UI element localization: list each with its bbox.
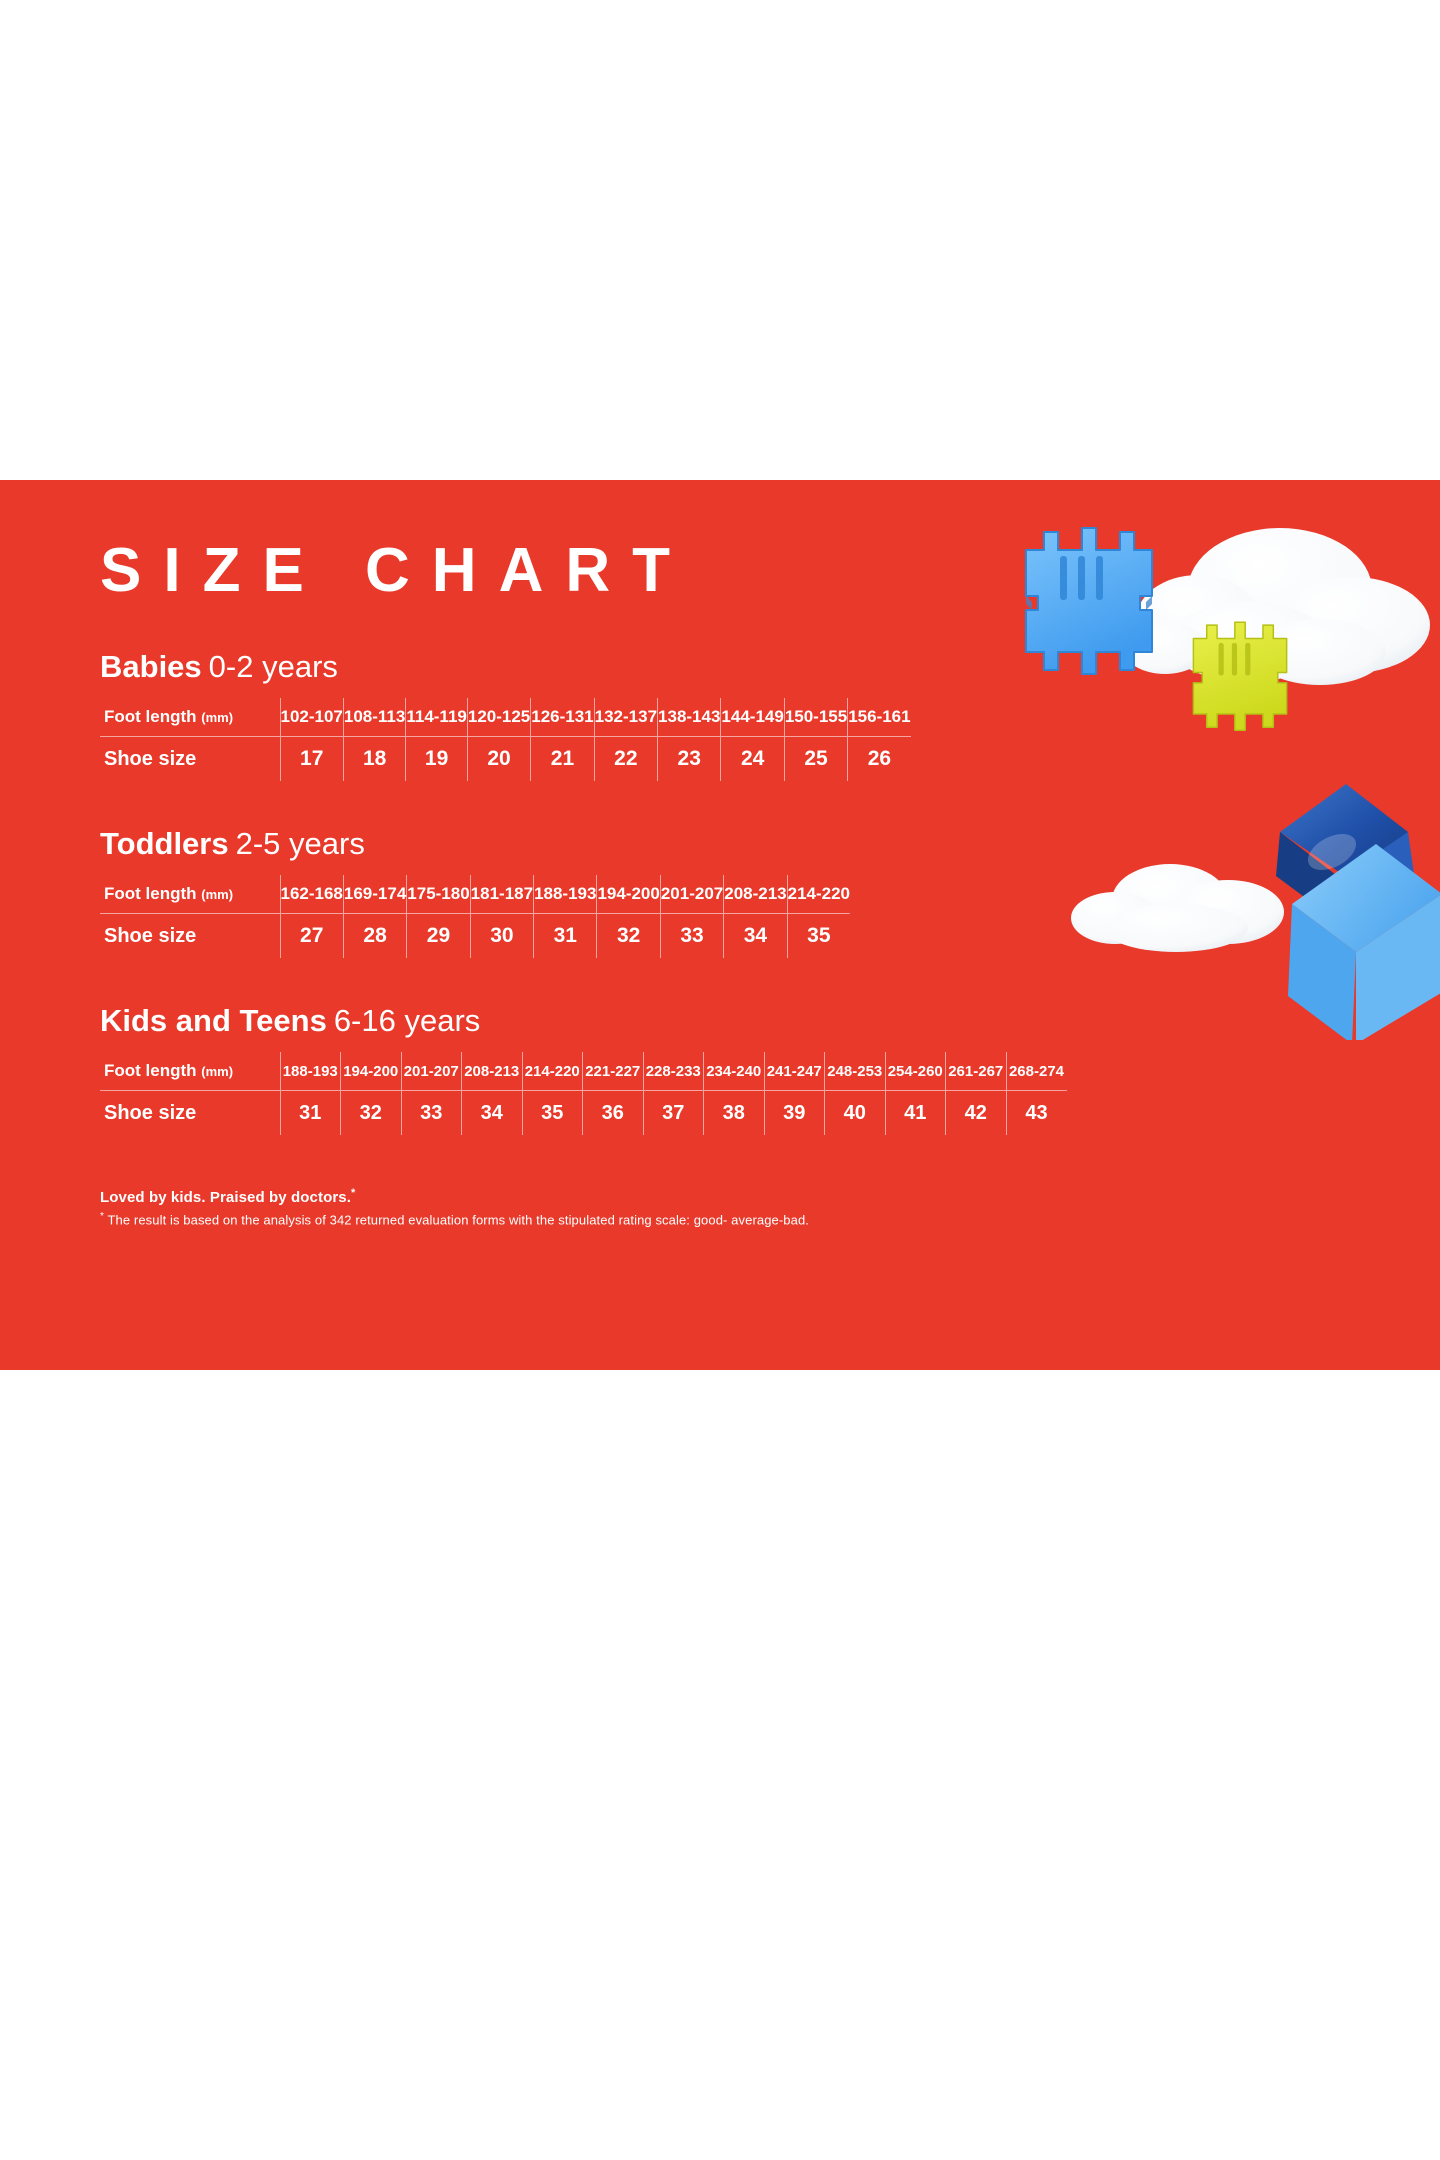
shoe-size-cell: 18: [343, 737, 405, 782]
footnote-block: Loved by kids. Praised by doctors.* * Th…: [100, 1135, 1340, 1227]
foot-length-cell: 181-187: [470, 875, 533, 914]
section-toddlers-ages: 2-5 years: [236, 826, 365, 861]
section-toddlers-heading: Toddlers2-5 years: [100, 827, 1340, 861]
footnote-disclaimer-text: The result is based on the analysis of 3…: [107, 1213, 809, 1228]
foot-length-cell: 261-267: [946, 1052, 1007, 1091]
shoe-size-cell: 40: [825, 1091, 886, 1136]
foot-length-cell: 144-149: [721, 698, 784, 737]
section-toddlers-name: Toddlers: [100, 826, 229, 861]
table-row: Foot length (mm) 162-168169-174175-18018…: [100, 875, 850, 914]
row-label-shoe-size: Shoe size: [100, 1091, 280, 1136]
foot-length-cell: 228-233: [643, 1052, 704, 1091]
shoe-size-cell: 23: [658, 737, 721, 782]
foot-length-cell: 201-207: [401, 1052, 462, 1091]
shoe-size-cell: 38: [704, 1091, 765, 1136]
foot-length-cell: 132-137: [594, 698, 657, 737]
foot-length-cell: 194-200: [341, 1052, 402, 1091]
row-label-shoe-size: Shoe size: [100, 914, 280, 959]
shoe-size-cell: 21: [531, 737, 594, 782]
table-toddlers: Foot length (mm) 162-168169-174175-18018…: [100, 875, 850, 958]
shoe-size-cell: 17: [280, 737, 343, 782]
shoe-size-cell: 28: [343, 914, 406, 959]
shoe-size-cell: 33: [401, 1091, 462, 1136]
section-kids-and-teens: Kids and Teens6-16 years Foot length (mm…: [100, 958, 1340, 1135]
foot-length-unit: (mm): [201, 710, 233, 725]
foot-length-text: Foot length: [104, 707, 197, 726]
footnote-claim-text: Loved by kids. Praised by doctors.: [100, 1189, 351, 1206]
section-kids-heading: Kids and Teens6-16 years: [100, 1004, 1340, 1038]
table-kids-and-teens: Foot length (mm) 188-193194-200201-20720…: [100, 1052, 1067, 1135]
footnote-disclaimer: * The result is based on the analysis of…: [100, 1211, 1340, 1227]
foot-length-cell: 201-207: [660, 875, 723, 914]
shoe-size-cell: 29: [407, 914, 470, 959]
shoe-size-cell: 35: [522, 1091, 583, 1136]
foot-length-text: Foot length: [104, 884, 197, 903]
table-row: Shoe size 272829303132333435: [100, 914, 850, 959]
table-row: Foot length (mm) 102-107108-113114-11912…: [100, 698, 911, 737]
size-chart-page: SIZE CHART Babies0-2 years Foot length (…: [0, 0, 1440, 2160]
shoe-size-cell: 25: [784, 737, 847, 782]
footnote-claim-marker: *: [351, 1187, 355, 1199]
section-toddlers: Toddlers2-5 years Foot length (mm) 162-1…: [100, 781, 1340, 958]
table-row: Shoe size 17181920212223242526: [100, 737, 911, 782]
foot-length-cell: 208-213: [462, 1052, 523, 1091]
footnote-claim: Loved by kids. Praised by doctors.*: [100, 1187, 1340, 1206]
section-babies-ages: 0-2 years: [209, 649, 338, 684]
shoe-size-cell: 26: [848, 737, 911, 782]
shoe-size-cell: 32: [341, 1091, 402, 1136]
foot-length-cell: 114-119: [406, 698, 468, 737]
shoe-size-cell: 34: [724, 914, 787, 959]
shoe-size-cell: 32: [597, 914, 660, 959]
shoe-size-cell: 22: [594, 737, 657, 782]
foot-length-cell: 156-161: [848, 698, 911, 737]
row-label-foot-length: Foot length (mm): [100, 1052, 280, 1091]
shoe-size-cell: 42: [946, 1091, 1007, 1136]
shoe-size-cell: 37: [643, 1091, 704, 1136]
section-babies: Babies0-2 years Foot length (mm) 102-107…: [100, 602, 1340, 781]
shoe-size-cell: 20: [467, 737, 530, 782]
shoe-size-cell: 24: [721, 737, 784, 782]
foot-length-cell: 214-220: [522, 1052, 583, 1091]
foot-length-cell: 138-143: [658, 698, 721, 737]
shoe-size-cell: 39: [764, 1091, 825, 1136]
shoe-size-cell: 31: [280, 1091, 341, 1136]
foot-length-cell: 221-227: [583, 1052, 644, 1091]
foot-length-cell: 248-253: [825, 1052, 886, 1091]
row-label-foot-length: Foot length (mm): [100, 875, 280, 914]
shoe-size-cell: 19: [406, 737, 468, 782]
shoe-size-cell: 36: [583, 1091, 644, 1136]
foot-length-cell: 126-131: [531, 698, 594, 737]
foot-length-unit: (mm): [201, 887, 233, 902]
footnote-disclaimer-marker: *: [100, 1211, 104, 1222]
foot-length-cell: 254-260: [885, 1052, 946, 1091]
foot-length-unit: (mm): [201, 1064, 233, 1079]
foot-length-cell: 234-240: [704, 1052, 765, 1091]
row-label-foot-length: Foot length (mm): [100, 698, 280, 737]
foot-length-cell: 150-155: [784, 698, 847, 737]
shoe-size-cell: 31: [534, 914, 597, 959]
shoe-size-cell: 33: [660, 914, 723, 959]
shoe-size-cell: 27: [280, 914, 343, 959]
section-kids-name: Kids and Teens: [100, 1003, 327, 1038]
foot-length-cell: 169-174: [343, 875, 406, 914]
table-row: Shoe size 31323334353637383940414243: [100, 1091, 1067, 1136]
shoe-size-cell: 30: [470, 914, 533, 959]
foot-length-text: Foot length: [104, 1061, 197, 1080]
foot-length-cell: 162-168: [280, 875, 343, 914]
foot-length-cell: 188-193: [534, 875, 597, 914]
foot-length-cell: 214-220: [787, 875, 850, 914]
foot-length-cell: 241-247: [764, 1052, 825, 1091]
table-row: Foot length (mm) 188-193194-200201-20720…: [100, 1052, 1067, 1091]
shoe-size-cell: 41: [885, 1091, 946, 1136]
foot-length-cell: 108-113: [343, 698, 405, 737]
chart-content: SIZE CHART Babies0-2 years Foot length (…: [100, 480, 1340, 1228]
section-kids-ages: 6-16 years: [334, 1003, 480, 1038]
foot-length-cell: 102-107: [280, 698, 343, 737]
section-babies-name: Babies: [100, 649, 202, 684]
shoe-size-cell: 43: [1006, 1091, 1067, 1136]
foot-length-cell: 175-180: [407, 875, 470, 914]
foot-length-cell: 188-193: [280, 1052, 341, 1091]
page-title: SIZE CHART: [100, 480, 1340, 602]
foot-length-cell: 194-200: [597, 875, 660, 914]
shoe-size-cell: 35: [787, 914, 850, 959]
table-babies: Foot length (mm) 102-107108-113114-11912…: [100, 698, 911, 781]
foot-length-cell: 268-274: [1006, 1052, 1067, 1091]
row-label-shoe-size: Shoe size: [100, 737, 280, 782]
foot-length-cell: 208-213: [724, 875, 787, 914]
foot-length-cell: 120-125: [467, 698, 530, 737]
shoe-size-cell: 34: [462, 1091, 523, 1136]
section-babies-heading: Babies0-2 years: [100, 650, 1340, 684]
red-panel: SIZE CHART Babies0-2 years Foot length (…: [0, 480, 1440, 1370]
